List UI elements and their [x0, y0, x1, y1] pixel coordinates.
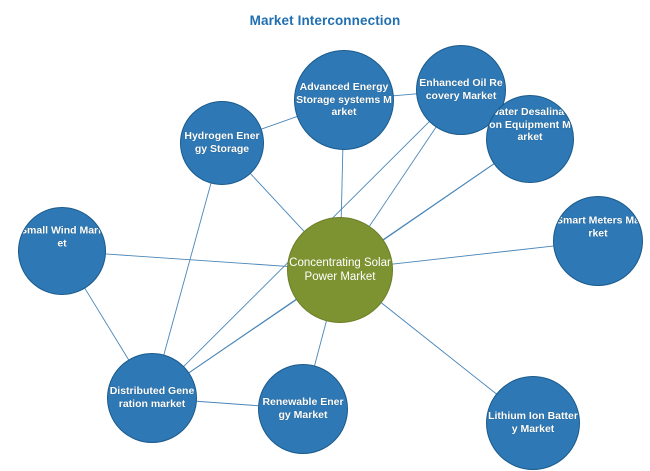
edge-hes-aes — [260, 116, 299, 130]
network-diagram-canvas: Market Interconnection Concentrating Sol… — [0, 0, 650, 471]
edge-swm-dgm — [84, 287, 130, 362]
node-advanced-energy-storage-systems-market[interactable]: Advanced Energy Storage systems Market — [294, 50, 394, 150]
node-smart-meters-market[interactable]: Smart Meters Market — [553, 196, 643, 286]
node-label: Concentrating Solar Power Market — [288, 256, 392, 284]
node-label: Hydrogen Energy Storage — [181, 130, 263, 155]
node-label: Water Desalination Equipment Market — [487, 106, 573, 144]
edge-csp-swm — [104, 254, 289, 267]
node-label: Distributed Generation market — [108, 385, 196, 410]
edge-csp-smm — [391, 246, 556, 264]
node-label: Enhanced Oil Recovery Market — [417, 77, 505, 102]
node-renewable-energy-market[interactable]: Renewable Energy Market — [258, 364, 348, 454]
edge-csp-eor — [368, 126, 437, 228]
node-label: Lithium Ion Battery Market — [487, 410, 579, 435]
node-water-desalination-equipment-market[interactable]: Water Desalination Equipment Market — [486, 95, 574, 183]
diagram-title: Market Interconnection — [0, 13, 650, 28]
node-small-wind-market[interactable]: Small Wind Market — [18, 207, 106, 295]
node-label: Smart Meters Market — [554, 214, 642, 239]
node-label: Advanced Energy Storage systems Market — [295, 81, 393, 119]
node-distributed-generation-market[interactable]: Distributed Generation market — [107, 353, 197, 443]
edge-csp-hes — [249, 172, 305, 232]
node-hydrogen-energy-storage[interactable]: Hydrogen Energy Storage — [180, 101, 264, 185]
edge-aes-eor — [392, 94, 418, 96]
node-label: Renewable Energy Market — [259, 396, 347, 421]
node-lithium-ion-battery-market[interactable]: Lithium Ion Battery Market — [486, 376, 580, 470]
node-concentrating-solar-power-market[interactable]: Concentrating Solar Power Market — [287, 217, 393, 323]
edge-csp-lib — [380, 302, 498, 395]
edge-hes-dgm — [163, 182, 211, 357]
edge-csp-rem — [314, 319, 327, 367]
edge-dgm-rem — [195, 401, 260, 406]
node-label: Small Wind Market — [19, 225, 105, 250]
